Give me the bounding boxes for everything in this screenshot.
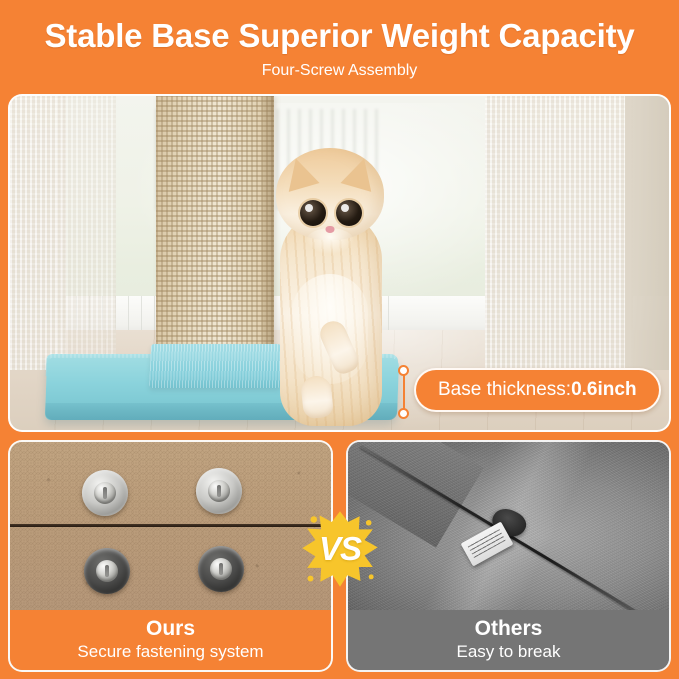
- vs-label: VS: [319, 530, 361, 568]
- ours-caption: Ours Secure fastening system: [10, 610, 331, 670]
- page-title: Stable Base Superior Weight Capacity: [44, 16, 634, 56]
- curtain-right-mid: [549, 96, 633, 370]
- curtain-left-inner: [56, 96, 116, 370]
- others-title: Others: [475, 617, 543, 641]
- caliper-dot-top: [398, 365, 409, 376]
- ours-subtitle: Secure fastening system: [77, 641, 263, 663]
- screw-bottom-left: [84, 548, 130, 594]
- base-thickness-badge: Base thickness:0.6inch: [414, 368, 661, 412]
- screw-head: [96, 560, 118, 582]
- ours-title: Ours: [146, 617, 195, 641]
- carpet-texture: [10, 442, 331, 614]
- cat-eye-left: [300, 200, 326, 226]
- cat-ear-right: [340, 154, 379, 192]
- ours-photo: [10, 442, 331, 614]
- screw-top-left: [82, 470, 128, 516]
- cat-nose: [326, 226, 335, 233]
- screw-head: [94, 482, 116, 504]
- comparison-panel-ours: Ours Secure fastening system: [8, 440, 333, 672]
- caliper-dot-bottom: [398, 408, 409, 419]
- vs-badge: VS: [299, 508, 381, 590]
- page-subtitle: Four-Screw Assembly: [262, 60, 418, 82]
- curtain-right-inner: [485, 96, 557, 370]
- cat-head: [276, 148, 384, 240]
- screw-top-right: [196, 468, 242, 514]
- others-subtitle: Easy to break: [457, 641, 561, 663]
- screw-head: [208, 480, 230, 502]
- curtain-right-outer: [625, 96, 669, 370]
- hero-image-panel: Base thickness:0.6inch: [8, 94, 671, 432]
- screw-head: [210, 558, 232, 580]
- thickness-caliper-icon: [398, 366, 410, 418]
- cat-ear-left: [280, 154, 319, 192]
- post-base-collar: [149, 344, 283, 388]
- comparison-panel-others: Others Easy to break: [346, 440, 671, 672]
- base-thickness-value: 0.6inch: [571, 379, 636, 401]
- others-photo: [348, 442, 669, 614]
- sisal-scratching-post: [156, 96, 274, 382]
- header: Stable Base Superior Weight Capacity Fou…: [0, 0, 679, 92]
- hero-scene: Base thickness:0.6inch: [10, 96, 669, 430]
- screw-bottom-right: [198, 546, 244, 592]
- cat: [266, 124, 398, 430]
- cat-eye-right: [336, 200, 362, 226]
- base-seam-line: [10, 524, 331, 527]
- others-caption: Others Easy to break: [348, 610, 669, 670]
- base-thickness-label: Base thickness:: [438, 379, 571, 401]
